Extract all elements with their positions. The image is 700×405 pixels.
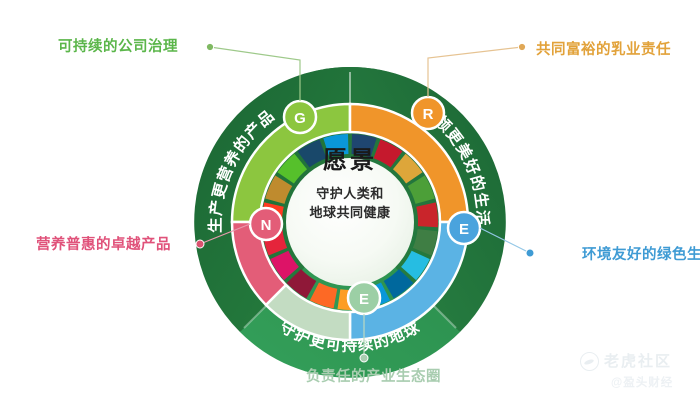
center-subtitle-line2: 地球共同健康: [286, 204, 414, 223]
badge-e-environment[interactable]: E: [448, 212, 480, 244]
diagram-canvas: 生产更营养的产品 引领更美好的生活 守护更可持续的地球: [0, 0, 700, 405]
connector-dot-responsibility: [518, 43, 525, 50]
center-title: 愿景: [286, 148, 414, 174]
connector-dot-ecosystem: [360, 354, 368, 362]
center-subtitle-line1: 守护人类和: [286, 185, 414, 204]
callout-label-environment[interactable]: 环境友好的绿色生产: [582, 248, 700, 263]
badge-e-env-letter: E: [459, 221, 469, 238]
callout-label-ecosystem[interactable]: 负责任的产业生态圈: [306, 370, 441, 385]
badge-r-letter: R: [423, 106, 434, 123]
badge-e-ecosystem[interactable]: E: [348, 282, 380, 314]
sdg-tile[interactable]: [416, 202, 438, 227]
tiger-logo-icon: [580, 352, 599, 371]
badge-r[interactable]: R: [412, 97, 444, 129]
badge-g-letter: G: [294, 110, 306, 127]
connector-dot-environment: [526, 249, 534, 257]
callout-label-nutrition[interactable]: 营养普惠的卓越产品: [36, 238, 171, 253]
watermark-handle: @盈头财经: [611, 374, 673, 390]
badge-n-letter: N: [261, 217, 272, 234]
callout-label-governance[interactable]: 可持续的公司治理: [58, 40, 178, 55]
center-text-block: 愿景 守护人类和 地球共同健康: [286, 148, 414, 223]
callout-label-responsibility[interactable]: 共同富裕的乳业责任: [536, 43, 671, 58]
watermark-name: 老虎社区: [604, 350, 672, 371]
connector-dot-nutrition: [196, 240, 204, 248]
connector-dot-governance: [206, 43, 213, 50]
badge-g[interactable]: G: [284, 101, 316, 133]
badge-n[interactable]: N: [250, 208, 282, 240]
connector-responsibility: [428, 47, 522, 97]
badge-e-eco-letter: E: [359, 291, 369, 308]
